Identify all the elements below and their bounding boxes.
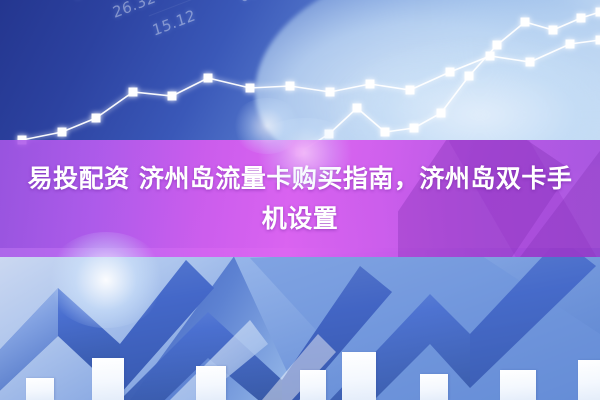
bar-chart-columns	[0, 330, 600, 400]
chart-node-marker	[493, 41, 502, 50]
bar-column	[342, 352, 376, 400]
headline-band-chevron	[398, 140, 600, 257]
chart-node-marker	[168, 92, 177, 101]
chart-node-marker	[566, 40, 575, 49]
bar-column	[300, 370, 326, 400]
chart-node-marker	[465, 72, 474, 81]
chart-node-marker	[437, 109, 446, 118]
bar-column	[26, 378, 54, 400]
chart-node-marker	[58, 128, 67, 137]
chart-line	[22, 40, 600, 140]
chart-node-marker	[521, 18, 530, 27]
chart-node-marker	[325, 130, 334, 139]
chart-node-marker	[286, 82, 295, 91]
chart-node-marker	[246, 84, 255, 93]
bar-column	[92, 358, 124, 400]
bar-column	[196, 366, 226, 400]
chart-node-marker	[596, 36, 600, 45]
chart-node-marker	[526, 58, 535, 67]
chart-node-marker	[549, 26, 558, 35]
chart-node-marker	[326, 88, 335, 97]
chart-node-marker	[446, 68, 455, 77]
chart-node-marker	[366, 80, 375, 89]
bar-column	[500, 370, 536, 400]
chart-node-marker	[381, 128, 390, 137]
bar-column	[420, 374, 448, 400]
finance-banner-image: -02.36+50.02-11.25-02.3521.064.25-11.25+…	[0, 0, 600, 400]
bar-column	[578, 360, 600, 400]
chart-node-marker	[577, 14, 586, 23]
chart-node-marker	[92, 114, 101, 123]
chart-node-marker	[353, 104, 362, 113]
chart-node-marker	[486, 52, 495, 61]
chart-node-marker	[204, 74, 213, 83]
chart-node-marker	[406, 86, 415, 95]
chart-node-marker	[596, 8, 600, 17]
chart-node-marker	[410, 124, 419, 133]
chart-node-marker	[129, 88, 138, 97]
